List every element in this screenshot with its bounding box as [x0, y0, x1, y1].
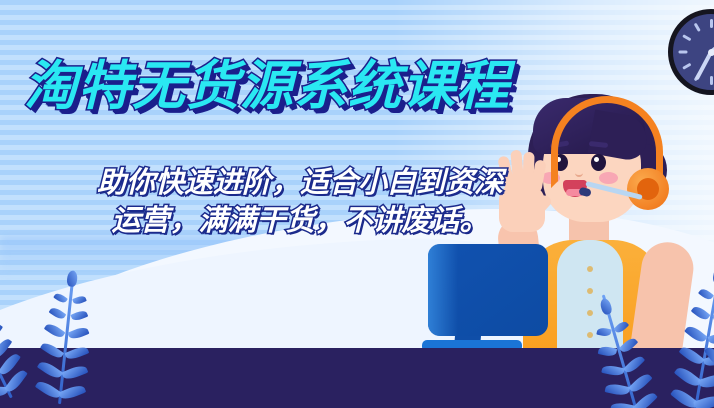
monitor-highlight [428, 244, 458, 336]
shirt-button [587, 266, 593, 272]
shirt-button [587, 288, 593, 294]
poster-subtitle: 助你快速进阶，适合小白到资深 运营，满满干货，不讲废话。 [50, 163, 550, 239]
course-banner-poster: 淘特无货源系统课程 助你快速进阶，适合小白到资深 运营，满满干货，不讲废话。 [0, 0, 714, 408]
clock-tick [693, 23, 700, 32]
clock-tick [678, 51, 687, 54]
clock-tick [682, 34, 691, 41]
blue-fern-right [606, 238, 714, 408]
fern-frond [22, 267, 110, 408]
clock-tick [710, 19, 713, 28]
clock-tick [710, 76, 713, 85]
clock-tick [682, 63, 691, 70]
poster-title: 淘特无货源系统课程 [24, 58, 584, 116]
blue-fern-left [0, 232, 156, 408]
subtitle-line-1: 助你快速进阶，适合小白到资深 [50, 163, 550, 201]
clock-center-cap [708, 49, 714, 56]
subtitle-line-2: 运营，满满干货，不讲废话。 [50, 201, 550, 239]
